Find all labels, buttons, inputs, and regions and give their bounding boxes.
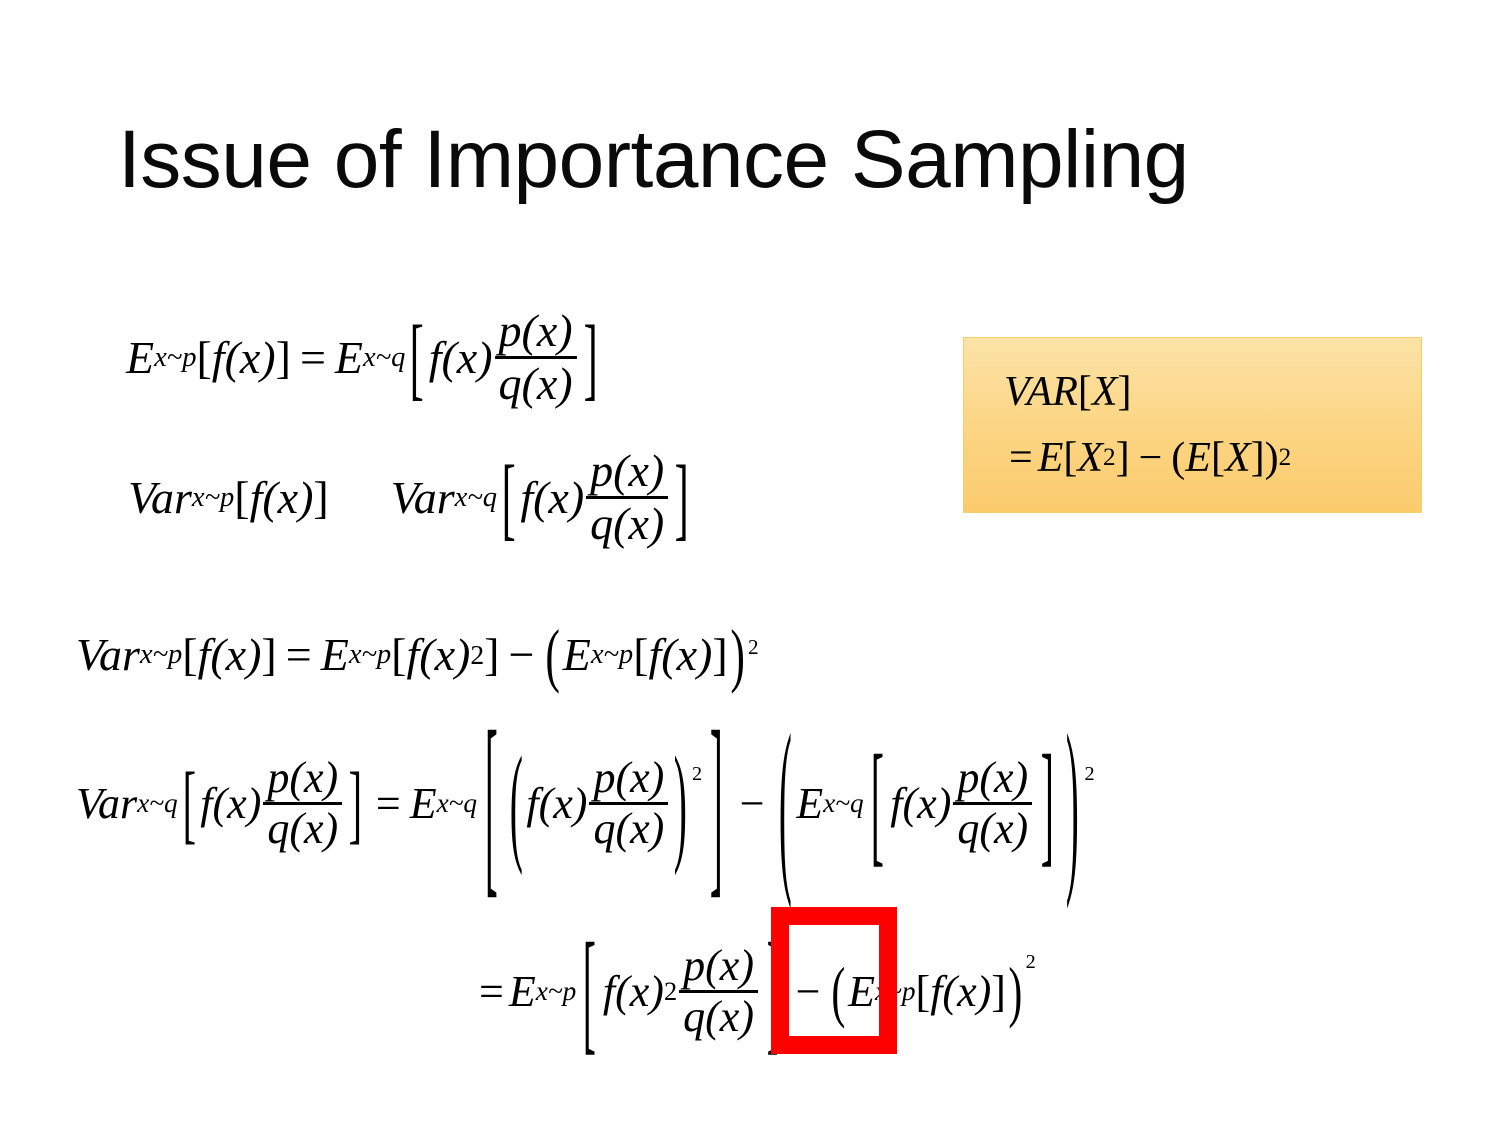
operator-equals: = (474, 966, 509, 1017)
bracket-close: ] (1118, 368, 1132, 416)
equation-variance-p-expansion: Varx~p [ f(x) ] = Ex~p [ f(x)2 ] − ( Ex~… (76, 628, 759, 681)
symbol-E: E (410, 778, 437, 829)
fraction-p-over-q: p(x) q(x) (589, 756, 668, 851)
symbol-X: X (1092, 368, 1118, 416)
symbol-E: E (335, 331, 363, 384)
equation-final-result: = Ex~p [ f(x)2 p(x) q(x) ] − ( Ex~p [ f(… (474, 944, 1036, 1039)
bracket-open: [ (391, 628, 406, 681)
paren-open: ( (778, 691, 791, 915)
subscript-x-p: x~p (192, 482, 234, 514)
argument-x: (x) (225, 331, 276, 384)
bracket-close: ] (767, 912, 780, 1070)
fraction-p-over-q: p(x) q(x) (495, 308, 577, 407)
bracket-open: [ (916, 966, 931, 1017)
bracket-close: ] (313, 471, 328, 524)
operator-equals: = (277, 628, 321, 681)
bracket-close: ] (583, 305, 597, 411)
symbol-E: E (796, 778, 823, 829)
bracket-close: ] (349, 753, 362, 855)
argument-x: (x) (441, 331, 492, 384)
subscript-x-q: x~q (455, 482, 497, 514)
paren-close: ) (674, 727, 687, 880)
symbol-f: f (429, 331, 442, 384)
symbol-f: f (649, 628, 662, 681)
bracket-close: ] (1251, 434, 1265, 482)
subscript-x-q: x~q (437, 788, 478, 819)
paren-close: ) (1008, 952, 1022, 1031)
fraction-numerator-p: p(x) (495, 308, 577, 356)
bracket-open: [ (182, 753, 195, 855)
symbol-VAR: VAR (1004, 368, 1078, 416)
symbol-f: f (930, 966, 942, 1017)
bracket-open: [ (633, 628, 648, 681)
exponent-two: 2 (470, 639, 484, 671)
bracket-open: [ (196, 331, 211, 384)
bracket-open: [ (1078, 368, 1092, 416)
bracket-close: ] (276, 331, 291, 384)
argument-x: (x) (533, 471, 584, 524)
fraction-numerator-p: p(x) (953, 756, 1032, 802)
symbol-Var: Var (128, 471, 192, 524)
fraction-numerator-p: p(x) (679, 944, 758, 990)
symbol-f: f (212, 331, 225, 384)
symbol-f: f (890, 778, 902, 829)
bracket-open: [ (870, 724, 883, 882)
symbol-E: E (321, 628, 349, 681)
callout-line-expansion: = E [ X2 ] − ( E [ X ] )2 (1004, 434, 1421, 482)
bracket-open: [ (485, 686, 498, 921)
equation-variance-q-expansion: Varx~q [ f(x) p(x) q(x) ] = Ex~q [ ( f(x… (76, 756, 1095, 851)
operator-minus: − (1130, 434, 1172, 482)
fraction-denominator-q: q(x) (586, 499, 668, 547)
paren-close: ) (1066, 691, 1079, 915)
bracket-close: ] (675, 445, 689, 551)
fraction-numerator-p: p(x) (263, 756, 342, 802)
subscript-x-p: x~p (536, 976, 577, 1007)
argument-x: (x) (262, 471, 313, 524)
argument-x: (x) (615, 966, 664, 1017)
fraction-denominator-q: q(x) (589, 805, 668, 851)
bracket-open: [ (502, 445, 516, 551)
paren-open: ( (546, 613, 561, 695)
bracket-close: ] (484, 628, 499, 681)
callout-line-var-of-x: VAR [ X ] (1004, 368, 1421, 416)
argument-x: (x) (661, 628, 712, 681)
paren-open: ( (1171, 434, 1185, 482)
fraction-denominator-q: q(x) (495, 359, 577, 407)
symbol-Var: Var (391, 471, 455, 524)
exponent-two: 2 (1103, 444, 1116, 472)
symbol-f: f (603, 966, 615, 1017)
symbol-E: E (126, 331, 154, 384)
paren-close: ) (1265, 434, 1279, 482)
exponent-two: 2 (664, 976, 677, 1007)
subscript-x-q: x~q (823, 788, 864, 819)
argument-x: (x) (942, 966, 991, 1017)
bracket-open: [ (234, 471, 249, 524)
fraction-p-over-q: p(x) q(x) (953, 756, 1032, 851)
fraction-p-over-q: p(x) q(x) (586, 448, 668, 547)
symbol-f: f (526, 778, 538, 829)
paren-open: ( (832, 952, 846, 1031)
subscript-x-p: x~p (349, 639, 391, 671)
bracket-open: [ (1063, 434, 1077, 482)
equation-expectation-identity: Ex~p [ f(x) ] = Ex~q [ f(x) p(x) q(x) ] (126, 308, 602, 407)
subscript-x-p: x~p (591, 639, 633, 671)
argument-x: (x) (903, 778, 952, 829)
symbol-E: E (509, 966, 536, 1017)
fraction-denominator-q: q(x) (679, 993, 758, 1039)
exponent-two: 2 (748, 635, 759, 660)
fraction-numerator-p: p(x) (586, 448, 668, 496)
argument-x: (x) (213, 778, 262, 829)
symbol-E: E (1185, 434, 1211, 482)
symbol-f: f (200, 778, 212, 829)
symbol-f: f (250, 471, 263, 524)
bracket-close: ] (1116, 434, 1130, 482)
bracket-open: [ (410, 305, 424, 411)
paren-close: ) (730, 613, 745, 695)
symbol-f: f (520, 471, 533, 524)
operator-equals: = (291, 331, 335, 384)
subscript-x-q: x~q (363, 342, 405, 374)
symbol-X: X (1077, 434, 1103, 482)
subscript-x-p: x~p (140, 639, 182, 671)
symbol-E: E (1038, 434, 1064, 482)
argument-x: (x) (419, 628, 470, 681)
bracket-open: [ (1211, 434, 1225, 482)
fraction-denominator-q: q(x) (263, 805, 342, 851)
variance-identity-callout: VAR [ X ] = E [ X2 ] − ( E [ X ] )2 (963, 337, 1422, 513)
operator-equals: = (1004, 434, 1038, 482)
exponent-two: 2 (692, 763, 702, 786)
symbol-Var: Var (76, 778, 137, 829)
symbol-E: E (848, 966, 875, 1017)
exponent-two: 2 (1085, 763, 1095, 786)
paren-open: ( (509, 727, 522, 880)
operator-equals: = (367, 778, 410, 829)
fraction-p-over-q-highlighted: p(x) q(x) (679, 944, 758, 1039)
subscript-x-p: x~p (875, 976, 916, 1007)
operator-minus: − (499, 628, 543, 681)
symbol-f: f (406, 628, 419, 681)
bracket-close: ] (991, 966, 1006, 1017)
exponent-two: 2 (1026, 951, 1036, 974)
symbol-X: X (1225, 434, 1251, 482)
subscript-x-q: x~q (137, 788, 178, 819)
bracket-open: [ (583, 912, 596, 1070)
bracket-open: [ (182, 628, 197, 681)
symbol-E: E (563, 628, 591, 681)
subscript-x-p: x~p (154, 342, 196, 374)
bracket-close: ] (1041, 724, 1054, 882)
fraction-p-over-q: p(x) q(x) (263, 756, 342, 851)
argument-x: (x) (210, 628, 261, 681)
operator-minus: − (787, 966, 830, 1017)
exponent-two: 2 (1279, 444, 1292, 472)
operator-minus: − (731, 778, 774, 829)
fraction-numerator-p: p(x) (589, 756, 668, 802)
symbol-f: f (198, 628, 211, 681)
bracket-close: ] (712, 628, 727, 681)
fraction-denominator-q: q(x) (953, 805, 1032, 851)
symbol-Var: Var (76, 628, 140, 681)
equation-variance-comparison: Varx~p [ f(x) ] Varx~q [ f(x) p(x) q(x) … (128, 448, 694, 547)
page-title: Issue of Importance Sampling (118, 112, 1189, 208)
bracket-close: ] (261, 628, 276, 681)
bracket-close: ] (710, 686, 723, 921)
argument-x: (x) (539, 778, 588, 829)
